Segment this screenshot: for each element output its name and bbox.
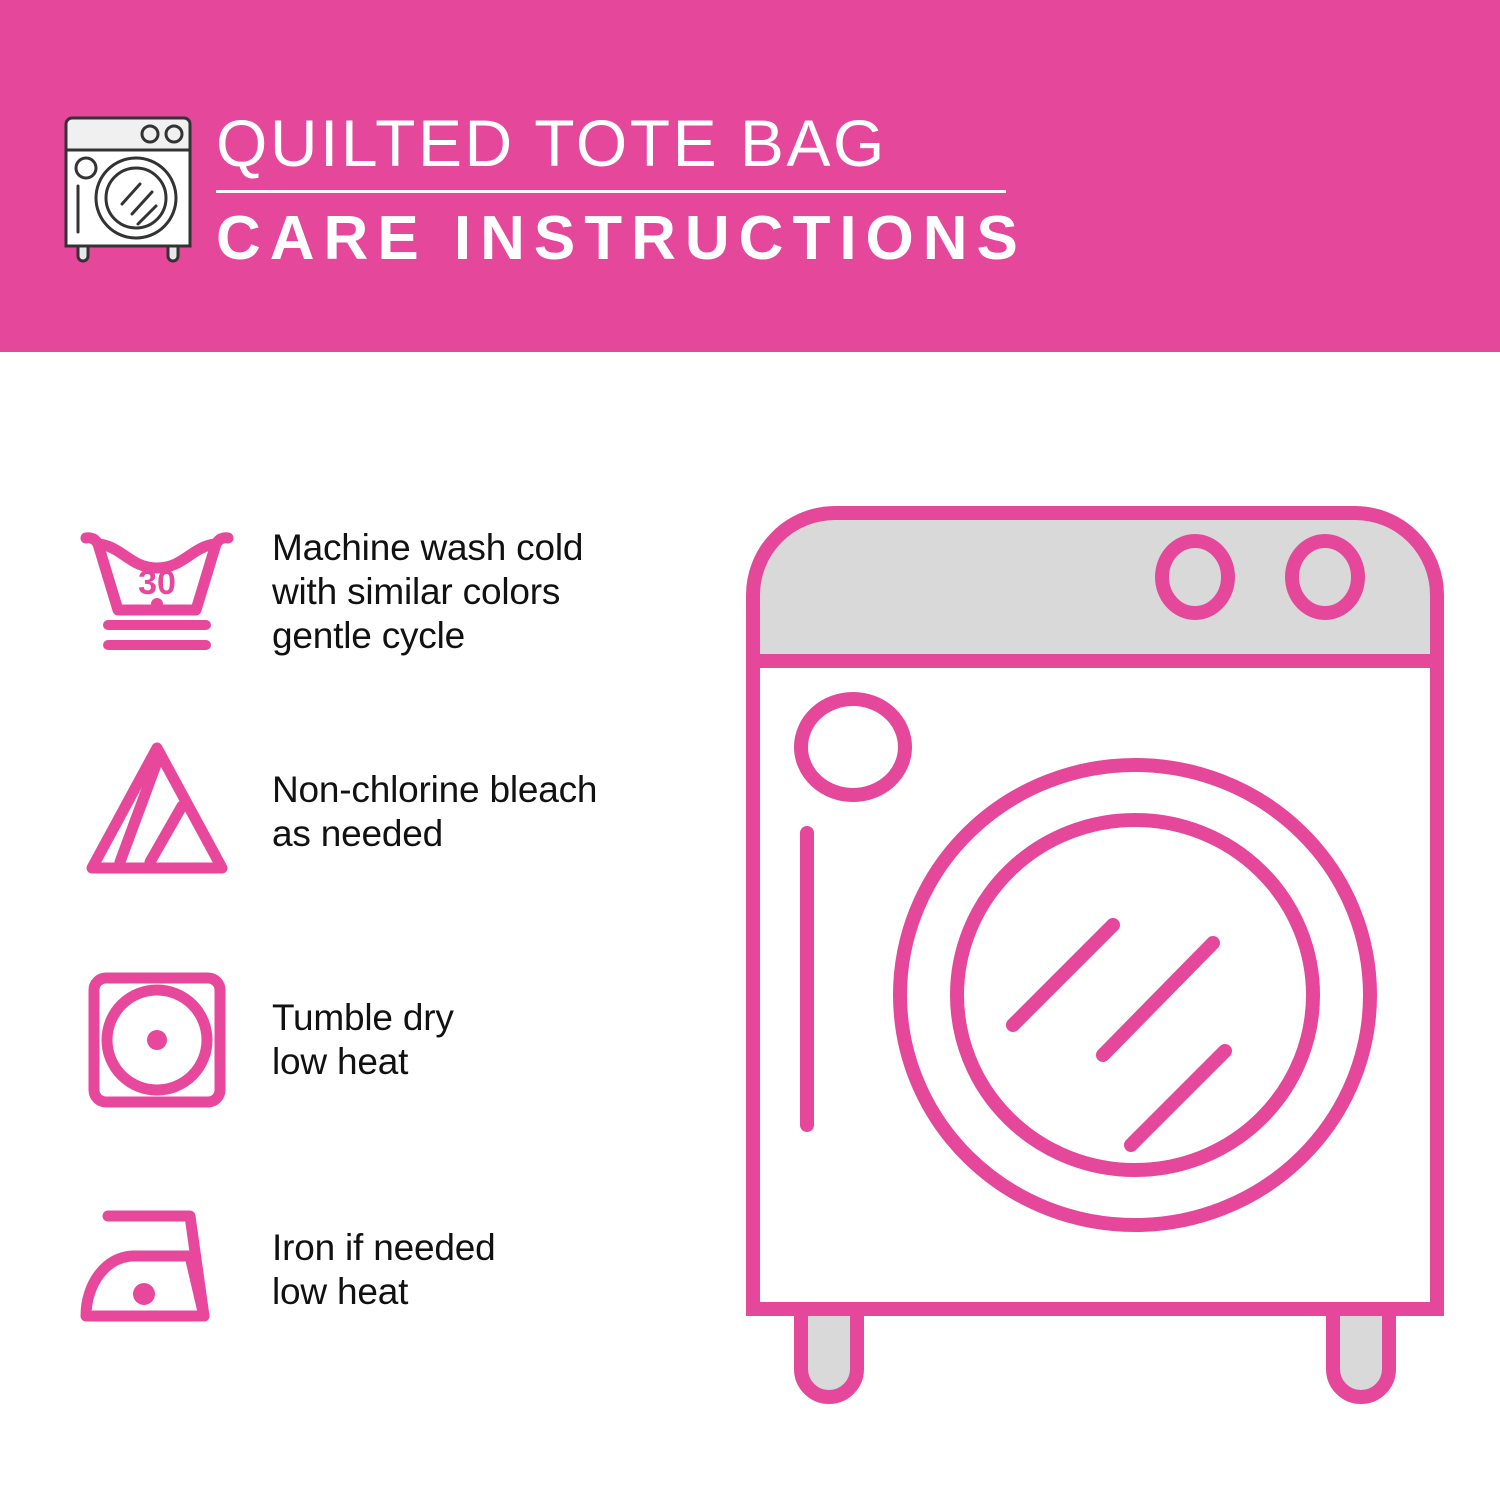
page-title: QUILTED TOTE BAG: [216, 104, 1026, 182]
iron-low-heat-icon: [72, 1190, 242, 1350]
care-text-line: low heat: [272, 1270, 495, 1314]
washing-machine-icon: [62, 104, 194, 264]
care-text-line: Iron if needed: [272, 1226, 495, 1270]
care-item-text: Machine wash cold with similar colors ge…: [272, 526, 583, 658]
care-text-line: Machine wash cold: [272, 526, 583, 570]
non-chlorine-bleach-triangle-icon: [72, 732, 242, 892]
care-item-text: Non-chlorine bleach as needed: [272, 768, 597, 856]
machine-leg-left: [801, 1309, 857, 1397]
front-load-washing-machine-illustration: [735, 495, 1455, 1425]
care-text-line: Non-chlorine bleach: [272, 768, 597, 812]
care-item-iron: Iron if needed low heat: [72, 1190, 712, 1350]
header-divider: [216, 190, 1006, 193]
machine-leg-right: [1333, 1309, 1389, 1397]
care-item-text: Iron if needed low heat: [272, 1226, 495, 1314]
care-item-machine-wash: 30 Machine wash cold with similar colors…: [72, 512, 712, 672]
header-text-block: QUILTED TOTE BAG CARE INSTRUCTIONS: [216, 104, 1026, 275]
machine-wash-30-gentle-icon: 30: [72, 512, 242, 672]
care-symbol-list: 30 Machine wash cold with similar colors…: [0, 352, 730, 1500]
care-text-line: Tumble dry: [272, 996, 454, 1040]
tumble-dry-low-heat-icon: [72, 960, 242, 1120]
care-text-line: gentle cycle: [272, 614, 583, 658]
care-item-tumble-dry: Tumble dry low heat: [72, 960, 712, 1120]
header-banner: QUILTED TOTE BAG CARE INSTRUCTIONS: [0, 0, 1500, 352]
page-subtitle: CARE INSTRUCTIONS: [216, 203, 1026, 275]
wash-temperature-value: 30: [138, 564, 176, 602]
care-item-bleach: Non-chlorine bleach as needed: [72, 732, 712, 892]
care-instructions-page: QUILTED TOTE BAG CARE INSTRUCTIONS 30: [0, 0, 1500, 1500]
care-text-line: low heat: [272, 1040, 454, 1084]
care-text-line: as needed: [272, 812, 597, 856]
care-text-line: with similar colors: [272, 570, 583, 614]
care-item-text: Tumble dry low heat: [272, 996, 454, 1084]
